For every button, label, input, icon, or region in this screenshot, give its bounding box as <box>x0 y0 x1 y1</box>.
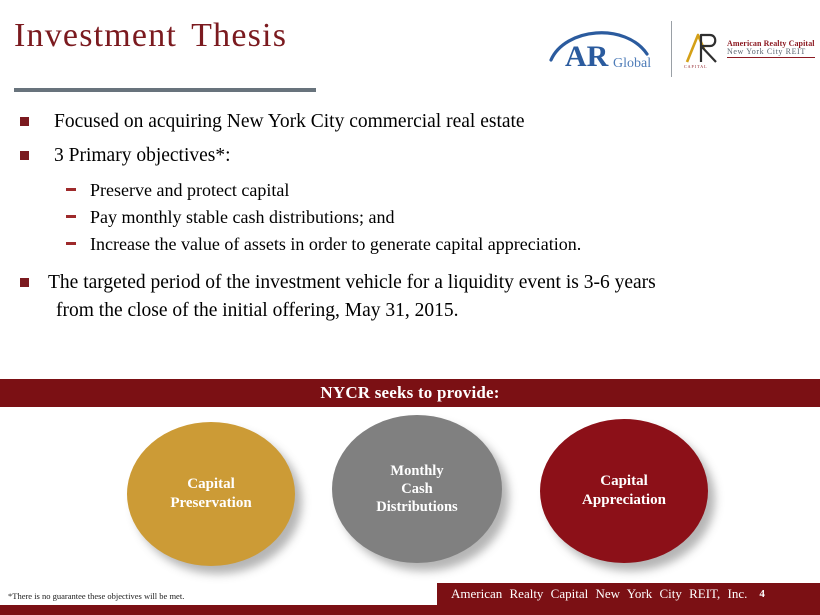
circle-label-line1: Capital <box>187 476 235 492</box>
sub-bullet-text: Pay monthly stable cash distributions; a… <box>90 207 394 227</box>
dash-bullet-icon <box>66 188 76 191</box>
title-block: Investment Thesis <box>14 16 434 55</box>
circle-label-line3: Distributions <box>376 499 457 515</box>
nycr-banner: NYCR seeks to provide: <box>0 379 820 407</box>
circle-label-line1: Monthly <box>390 463 443 479</box>
ar-global-logo: AR Global <box>547 20 659 78</box>
bullet-item: Focused on acquiring New York City comme… <box>16 108 806 136</box>
svg-text:AR: AR <box>565 40 609 73</box>
arc-wordmark-rule <box>727 57 815 58</box>
svg-text:CAPITAL: CAPITAL <box>684 64 708 69</box>
bullet-text-line1: The targeted period of the investment ve… <box>48 272 656 293</box>
arc-nycr-logo: CAPITAL American Realty Capital New York… <box>684 27 810 71</box>
logo-area: AR Global CAPITAL American Realty Capita… <box>547 18 810 80</box>
nycr-banner-text: NYCR seeks to provide: <box>320 383 499 403</box>
svg-text:Global: Global <box>613 56 651 71</box>
sub-bullet-text: Increase the value of assets in order to… <box>90 234 581 254</box>
bullet-item: 3 Primary objectives*: <box>16 142 806 170</box>
bullet-text: Focused on acquiring New York City comme… <box>54 111 525 132</box>
circle-label-line2: Preservation <box>170 495 251 511</box>
page-title: Investment Thesis <box>14 16 434 55</box>
sub-bullet-item: Preserve and protect capital <box>16 177 806 204</box>
arc-wordmark: American Realty Capital New York City RE… <box>727 40 815 59</box>
sub-bullet-group: Preserve and protect capital Pay monthly… <box>16 177 806 259</box>
footer-bar: American Realty Capital New York City RE… <box>437 583 820 605</box>
footnote-text: *There is no guarantee these objectives … <box>8 591 184 601</box>
sub-bullet-item: Increase the value of assets in order to… <box>16 231 806 258</box>
circle-capital-preservation: Capital Preservation <box>127 422 295 566</box>
circle-capital-appreciation: Capital Appreciation <box>540 419 708 563</box>
bullet-text: 3 Primary objectives*: <box>54 145 231 166</box>
circle-label-line2: Appreciation <box>582 492 666 508</box>
dash-bullet-icon <box>66 215 76 218</box>
circle-label: Monthly Cash Distributions <box>368 462 465 516</box>
bullet-text-line2: from the close of the initial offering, … <box>48 297 806 325</box>
square-bullet-icon <box>20 151 29 160</box>
logo-divider <box>671 21 672 77</box>
sub-bullet-text: Preserve and protect capital <box>90 180 289 200</box>
dash-bullet-icon <box>66 242 76 245</box>
bullet-list: Focused on acquiring New York City comme… <box>16 108 806 331</box>
square-bullet-icon <box>20 117 29 126</box>
circle-diagram: Capital Preservation Monthly Cash Distri… <box>0 407 820 572</box>
bullet-item: The targeted period of the investment ve… <box>16 269 806 326</box>
title-underline-rule <box>14 88 316 92</box>
circle-monthly-cash-distributions: Monthly Cash Distributions <box>332 415 502 563</box>
bullet-text: The targeted period of the investment ve… <box>48 269 806 326</box>
circle-label: Capital Preservation <box>162 475 259 513</box>
arc-wordmark-line2: New York City REIT <box>727 48 815 57</box>
sub-bullet-item: Pay monthly stable cash distributions; a… <box>16 204 806 231</box>
arc-capital-mark-icon: CAPITAL <box>684 29 724 69</box>
footer-page-number: 4 <box>759 588 765 600</box>
slide-canvas: Investment Thesis AR Global CAPITAL Amer… <box>0 0 820 615</box>
square-bullet-icon <box>20 278 29 287</box>
circle-label-line2: Cash <box>401 481 432 497</box>
circle-label: Capital Appreciation <box>574 472 674 510</box>
bottom-accent-rule <box>0 605 820 615</box>
ar-global-logo-icon: AR Global <box>547 20 659 78</box>
circle-label-line1: Capital <box>600 473 648 489</box>
footer-company-name: American Realty Capital New York City RE… <box>451 586 747 602</box>
